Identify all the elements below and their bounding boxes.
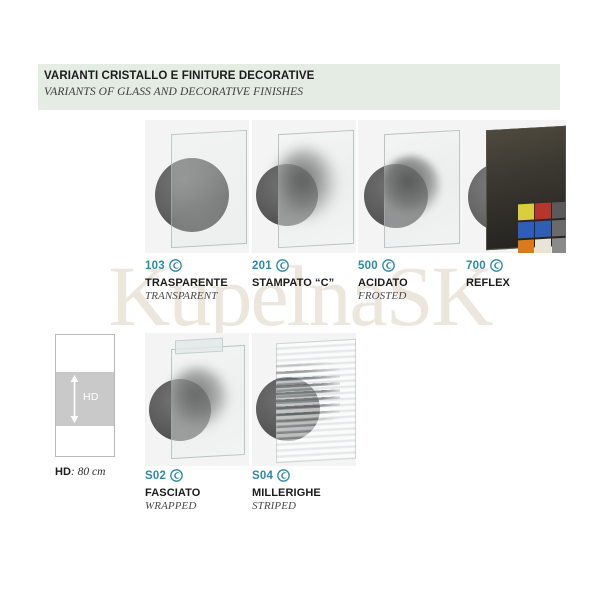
color-swatch [535,238,551,253]
color-swatch [535,203,551,220]
section-header-band: VARIANTI CRISTALLO E FINITURE DECORATIVE… [38,64,560,110]
sample-tile-103-trasparente[interactable] [145,120,249,253]
color-swatch [518,221,534,238]
hd-caption: HD: 80 cm [55,466,105,478]
swirl-circle-icon [170,469,183,482]
color-swatch [552,237,566,253]
variant-name: MILLERIGHE [252,487,321,499]
variant-translation: FROSTED [358,290,408,302]
swirl-circle-icon [382,259,395,272]
page-title: VARIANTI CRISTALLO E FINITURE DECORATIVE [44,70,314,82]
sample-tile-s02-fasciato[interactable] [145,333,249,466]
color-swatch [518,239,534,253]
color-checker-chart [518,202,566,253]
swirl-circle-icon [277,469,290,482]
code-line: 700 [466,258,510,273]
variant-name: FASCIATO [145,487,200,499]
code-line: 500 [358,258,408,273]
diffused-sphere [274,148,336,220]
hd-caption-value: : 80 cm [71,466,106,478]
variant-code: 500 [358,260,378,272]
code-line: 103 [145,258,228,273]
color-swatch [535,220,551,237]
variant-name: TRASPARENTE [145,277,228,289]
swirl-circle-icon [276,259,289,272]
variant-translation: WRAPPED [145,500,200,512]
code-line: S02 [145,468,200,483]
page-subtitle: VARIANTS OF GLASS AND DECORATIVE FINISHE… [44,86,303,98]
code-line: S04 [252,468,321,483]
caption-s02: S02 FASCIATO WRAPPED [145,468,200,512]
variant-name: REFLEX [466,277,510,289]
hd-double-arrow-icon [70,375,79,423]
caption-201: 201 STAMPATO “C” [252,258,334,290]
variant-code: S02 [145,470,166,482]
color-swatch [518,204,534,221]
variant-code: 201 [252,260,272,272]
hd-inline-label: HD [83,391,99,403]
glass-highlight [171,130,245,246]
variant-code: 700 [466,260,486,272]
variant-code: S04 [252,470,273,482]
variant-name: ACIDATO [358,277,408,289]
stripe-overlay [276,361,340,427]
swirl-circle-icon [490,259,503,272]
diffused-sphere [382,156,440,216]
sample-tile-s04-millerighe[interactable] [252,333,356,466]
swirl-circle-icon [169,259,182,272]
diffused-sphere [169,367,227,429]
sample-tile-500-acidato[interactable] [358,120,462,253]
variant-translation: STRIPED [252,500,321,512]
hd-caption-label: HD [55,466,71,478]
color-swatch [552,219,566,236]
sample-tile-700-reflex[interactable] [462,120,566,253]
color-swatch [552,202,566,219]
variant-translation: TRANSPARENT [145,290,228,302]
wrapped-band [175,338,223,355]
variant-name: STAMPATO “C” [252,277,334,289]
code-line: 201 [252,258,334,273]
caption-103: 103 TRASPARENTE TRANSPARENT [145,258,228,302]
sample-tile-201-stampato-c[interactable] [252,120,356,253]
variant-code: 103 [145,260,165,272]
caption-500: 500 ACIDATO FROSTED [358,258,408,302]
caption-s04: S04 MILLERIGHE STRIPED [252,468,321,512]
caption-700: 700 REFLEX [466,258,510,290]
hd-height-diagram: HD [55,334,115,457]
